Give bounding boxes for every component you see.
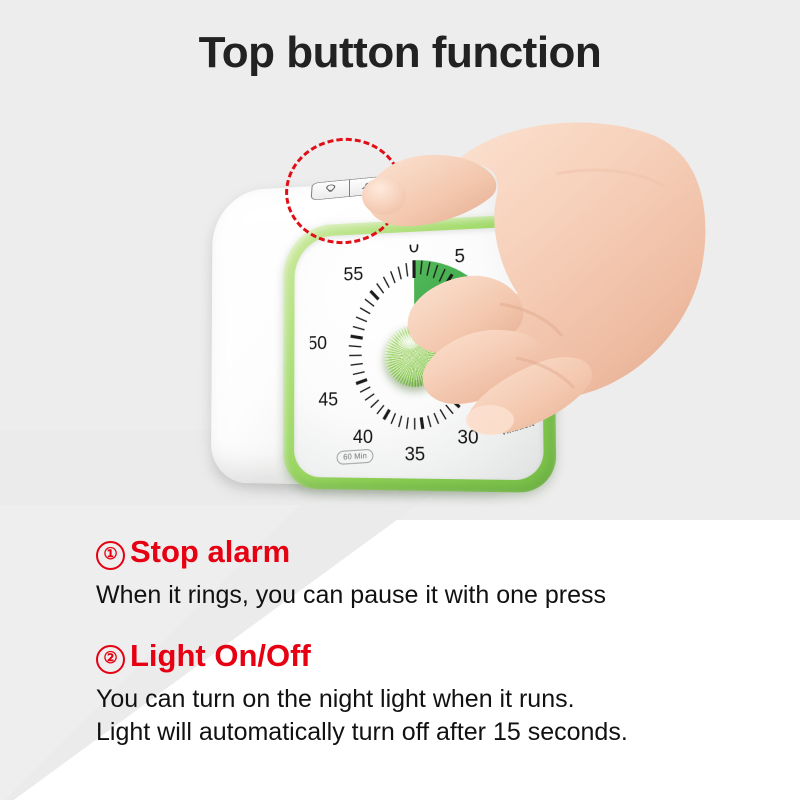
section-2-line-1: You can turn on the night light when it … (96, 683, 628, 716)
section-1-line-1: When it rings, you can pause it with one… (96, 579, 606, 612)
duration-badge: 60 Min (337, 449, 374, 465)
section-1-heading: ① Stop alarm (96, 534, 606, 573)
section-light-on-off: ② Light On/Off You can turn on the night… (96, 638, 628, 749)
section-2-heading-text: Light On/Off (130, 638, 311, 674)
section-1-number: ① (96, 541, 125, 570)
dial-label-35: 35 (405, 443, 426, 465)
hand-pressing-button (350, 108, 710, 438)
section-stop-alarm: ① Stop alarm When it rings, you can paus… (96, 534, 606, 612)
dial-label-50: 50 (310, 332, 327, 354)
dial-label-45: 45 (318, 388, 338, 409)
section-1-heading-text: Stop alarm (130, 534, 290, 570)
section-2-line-2: Light will automatically turn off after … (96, 716, 628, 749)
section-2-number: ② (96, 645, 125, 674)
product-photo: 0 5 25 30 35 40 45 50 55 (150, 110, 710, 510)
section-2-heading: ② Light On/Off (96, 638, 628, 677)
page-root: Top button function (0, 0, 800, 800)
page-title: Top button function (0, 28, 800, 78)
